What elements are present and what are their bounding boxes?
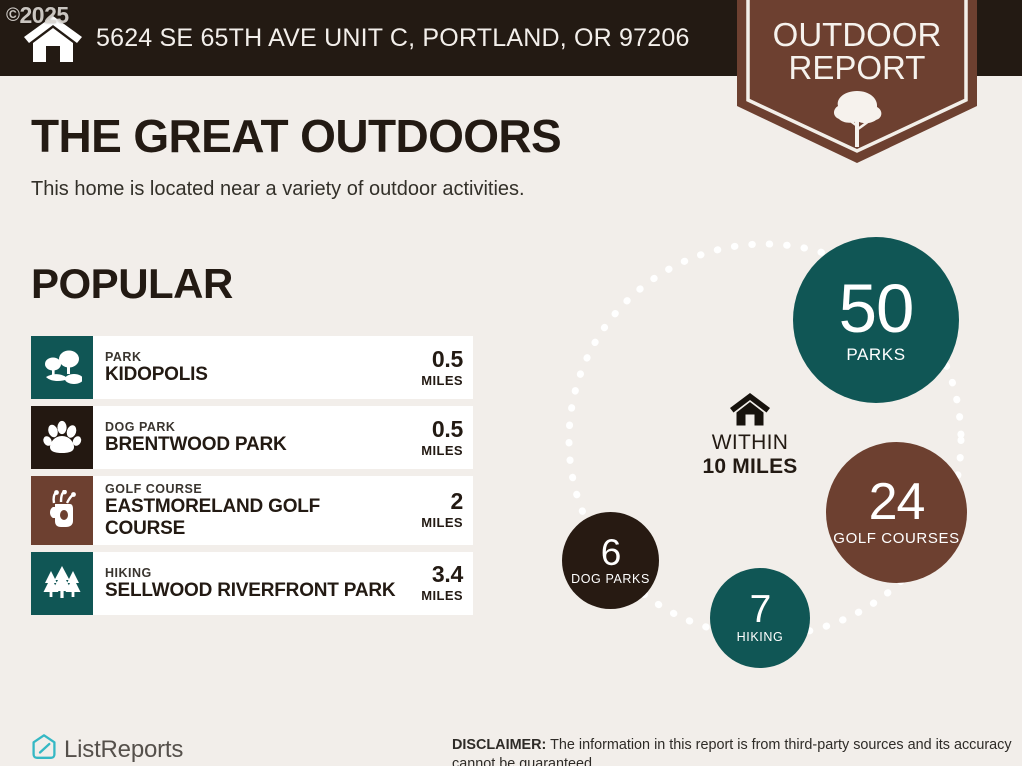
list-item-text: PARK KIDOPOLIS	[105, 350, 208, 386]
listreports-logo-text: ListReports	[64, 736, 183, 764]
bubble-dog-parks: 6 DOG PARKS	[562, 512, 659, 609]
list-item[interactable]: GOLF COURSE EASTMORELAND GOLF COURSE 2 M…	[31, 476, 473, 545]
distance-value: 0.5	[403, 418, 463, 441]
bubble-hiking: 7 HIKING	[710, 568, 810, 668]
list-item-category: PARK	[105, 350, 208, 364]
list-item-distance: 3.4 MILES	[397, 563, 463, 603]
park-trees-icon	[31, 336, 93, 399]
section-heading-popular: POPULAR	[31, 260, 233, 308]
list-item-text: HIKING SELLWOOD RIVERFRONT PARK	[105, 566, 395, 602]
list-item-name: BRENTWOOD PARK	[105, 434, 287, 455]
list-item[interactable]: HIKING SELLWOOD RIVERFRONT PARK 3.4 MILE…	[31, 552, 473, 615]
pine-trees-icon	[31, 552, 93, 615]
list-item-category: HIKING	[105, 566, 395, 580]
bubble-value: 7	[750, 591, 771, 628]
chart-center-marker: WITHIN 10 MILES	[675, 391, 825, 479]
distance-unit: MILES	[403, 588, 463, 603]
bubble-label: DOG PARKS	[571, 573, 650, 586]
list-item-distance: 0.5 MILES	[397, 348, 463, 388]
bubble-value: 24	[869, 478, 925, 527]
listreports-house-icon	[31, 733, 57, 766]
distance-value: 2	[403, 490, 463, 513]
paw-print-icon	[31, 406, 93, 469]
bubble-label: GOLF COURSES	[833, 531, 959, 547]
list-item-body: DOG PARK BRENTWOOD PARK 0.5 MILES	[93, 406, 473, 469]
list-item-name: SELLWOOD RIVERFRONT PARK	[105, 580, 395, 601]
popular-list: PARK KIDOPOLIS 0.5 MILES	[31, 336, 473, 622]
header-content: 5624 SE 65TH AVE UNIT C, PORTLAND, OR 97…	[0, 0, 690, 76]
within-10-miles-bubble-chart: 50 PARKS 24 GOLF COURSES 7 HIKING 6 DOG …	[520, 215, 1020, 685]
distance-value: 3.4	[403, 563, 463, 586]
home-icon	[675, 391, 825, 427]
distance-value: 0.5	[403, 348, 463, 371]
list-item-body: GOLF COURSE EASTMORELAND GOLF COURSE 2 M…	[93, 476, 473, 545]
golf-bag-icon	[31, 476, 93, 545]
distance-unit: MILES	[403, 373, 463, 388]
list-item-body: PARK KIDOPOLIS 0.5 MILES	[93, 336, 473, 399]
list-item-name: KIDOPOLIS	[105, 364, 208, 385]
list-item[interactable]: DOG PARK BRENTWOOD PARK 0.5 MILES	[31, 406, 473, 469]
list-item-text: DOG PARK BRENTWOOD PARK	[105, 420, 287, 456]
distance-unit: MILES	[403, 515, 463, 530]
bubble-value: 50	[839, 276, 914, 342]
badge-line2: REPORT	[789, 49, 926, 86]
distance-unit: MILES	[403, 443, 463, 458]
list-item-distance: 0.5 MILES	[397, 418, 463, 458]
chart-center-line2: 10 MILES	[675, 455, 825, 479]
list-item-name: EASTMORELAND GOLF COURSE	[105, 496, 397, 539]
outdoor-report-badge: OUTDOOR REPORT	[737, 0, 977, 163]
list-item-category: GOLF COURSE	[105, 482, 397, 496]
list-item[interactable]: PARK KIDOPOLIS 0.5 MILES	[31, 336, 473, 399]
badge-line1: OUTDOOR	[773, 16, 942, 53]
bubble-parks: 50 PARKS	[793, 237, 959, 403]
home-icon	[22, 12, 84, 64]
page-title: THE GREAT OUTDOORS	[31, 113, 561, 159]
bubble-value: 6	[601, 535, 621, 570]
page-subtitle: This home is located near a variety of o…	[31, 178, 525, 201]
listreports-logo[interactable]: ListReports	[31, 733, 183, 766]
bubble-label: PARKS	[846, 346, 905, 364]
property-address: 5624 SE 65TH AVE UNIT C, PORTLAND, OR 97…	[96, 24, 690, 53]
disclaimer: DISCLAIMER: The information in this repo…	[452, 736, 1012, 766]
chart-center-line1: WITHIN	[675, 431, 825, 455]
bubble-golf-courses: 24 GOLF COURSES	[826, 442, 967, 583]
disclaimer-label: DISCLAIMER:	[452, 737, 546, 753]
list-item-body: HIKING SELLWOOD RIVERFRONT PARK 3.4 MILE…	[93, 552, 473, 615]
outdoor-report-page: 5624 SE 65TH AVE UNIT C, PORTLAND, OR 97…	[0, 0, 1022, 766]
list-item-distance: 2 MILES	[397, 490, 463, 530]
bubble-label: HIKING	[737, 631, 784, 644]
list-item-category: DOG PARK	[105, 420, 287, 434]
list-item-text: GOLF COURSE EASTMORELAND GOLF COURSE	[105, 482, 397, 539]
